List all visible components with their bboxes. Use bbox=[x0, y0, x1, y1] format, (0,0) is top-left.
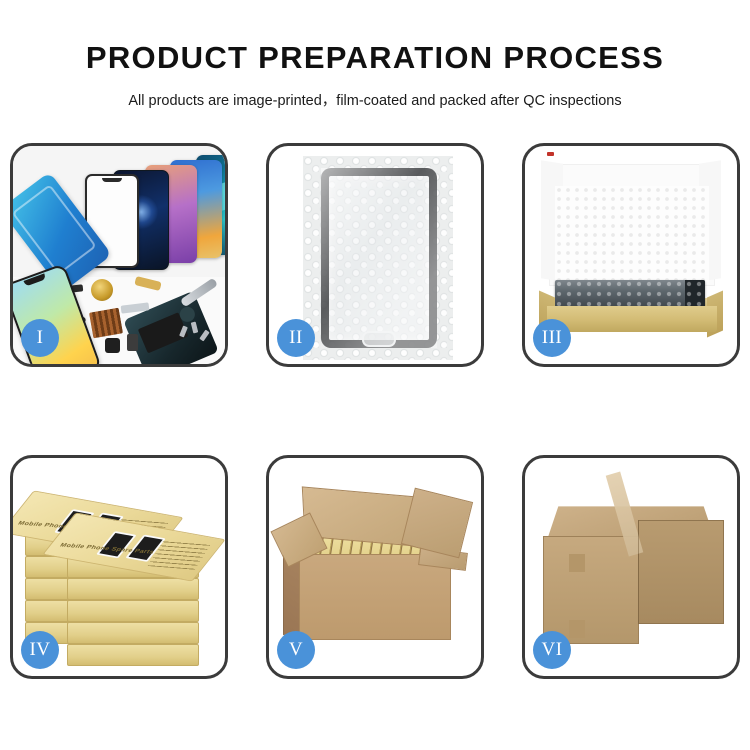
header: PRODUCT PREPARATION PROCESS All products… bbox=[0, 0, 750, 110]
step-panel-6: VI bbox=[522, 455, 740, 679]
page-subtitle: All products are image-printed，film-coat… bbox=[0, 89, 750, 110]
speaker-coil-icon bbox=[91, 279, 113, 301]
packed-screen-icon bbox=[555, 280, 705, 308]
step-badge-5: V bbox=[277, 631, 315, 669]
product-preparation-infographic: PRODUCT PREPARATION PROCESS All products… bbox=[0, 0, 750, 750]
step-badge-3: III bbox=[533, 319, 571, 357]
carton-face-right-icon bbox=[638, 520, 724, 624]
step-panel-4: Mobile Phone Spare Parts Mobile Phone Sp… bbox=[10, 455, 228, 679]
step-panel-1: I bbox=[10, 143, 228, 367]
step-panel-5: V bbox=[266, 455, 484, 679]
camera-module-icon bbox=[105, 338, 120, 353]
step-badge-6: VI bbox=[533, 631, 571, 669]
open-carton-icon bbox=[299, 554, 451, 640]
step-badge-2: II bbox=[277, 319, 315, 357]
battery-part-icon bbox=[127, 334, 138, 351]
step-badge-4: IV bbox=[21, 631, 59, 669]
label-sticker-icon bbox=[547, 152, 554, 156]
step-panel-2: II bbox=[266, 143, 484, 367]
carton-tab-top-icon bbox=[569, 554, 585, 572]
page-title: PRODUCT PREPARATION PROCESS bbox=[0, 40, 750, 76]
kraft-box-front-icon bbox=[547, 306, 717, 332]
step-badge-1: I bbox=[21, 319, 59, 357]
foam-padding-icon bbox=[555, 186, 709, 284]
copper-grid-part-icon bbox=[89, 308, 123, 339]
screws-icon bbox=[181, 322, 215, 348]
steps-grid: I II bbox=[10, 143, 740, 679]
wrapped-screen-icon bbox=[321, 168, 437, 348]
carton-face-left-icon bbox=[543, 536, 639, 644]
carton-tab-bottom-icon bbox=[569, 620, 585, 638]
step-panel-3: III bbox=[522, 143, 740, 367]
